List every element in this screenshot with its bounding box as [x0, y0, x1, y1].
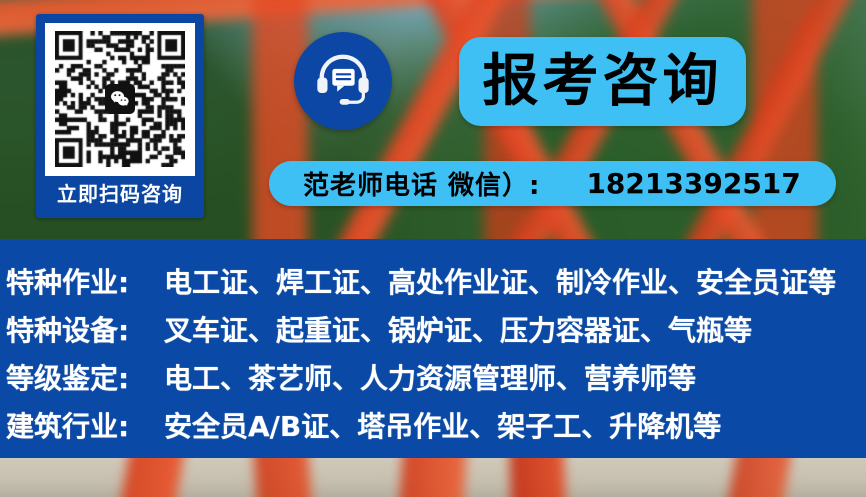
- course-row-value: 叉车证、起重证、锅炉证、压力容器证、气瓶等: [164, 309, 752, 349]
- course-row-label: 特种作业:: [6, 261, 156, 301]
- qr-card[interactable]: 立即扫码咨询: [36, 14, 204, 218]
- qr-code-icon[interactable]: [55, 31, 185, 167]
- course-row-value: 安全员A/B证、塔吊作业、架子工、升降机等: [164, 405, 721, 445]
- headset-support-icon: [312, 48, 374, 115]
- course-row-grade-assessment: 等级鉴定: 电工、茶艺师、人力资源管理师、营养师等: [0, 357, 866, 405]
- phone-pill[interactable]: 范老师电话 微信）: 18213392517: [269, 161, 836, 206]
- title-pill[interactable]: 报考咨询: [459, 37, 746, 126]
- course-row-value: 电工、茶艺师、人力资源管理师、营养师等: [164, 357, 696, 397]
- course-row-label: 等级鉴定:: [6, 357, 156, 397]
- qr-code-area: [45, 23, 195, 176]
- qr-caption: 立即扫码咨询: [39, 176, 201, 212]
- phone-number: 18213392517: [586, 167, 800, 200]
- course-row-value: 电工证、焊工证、高处作业证、制冷作业、安全员证等: [164, 261, 836, 301]
- course-row-special-equipment: 特种设备: 叉车证、起重证、锅炉证、压力容器证、气瓶等: [0, 309, 866, 357]
- hero-banner: 立即扫码咨询 报考咨询: [0, 0, 866, 239]
- course-row-special-operation: 特种作业: 电工证、焊工证、高处作业证、制冷作业、安全员证等: [0, 261, 866, 309]
- service-badge[interactable]: [294, 32, 392, 130]
- title-pill-label: 报考咨询: [483, 54, 723, 110]
- course-list-panel: 特种作业: 电工证、焊工证、高处作业证、制冷作业、安全员证等 特种设备: 叉车证…: [0, 239, 866, 458]
- bottom-photo-strip: [0, 458, 866, 497]
- promo-poster: 立即扫码咨询 报考咨询: [0, 0, 866, 497]
- wechat-icon: [105, 84, 135, 114]
- phone-pill-label: 范老师电话 微信）:: [303, 165, 540, 202]
- course-row-label: 建筑行业:: [6, 405, 156, 445]
- background-photo-ground: [0, 458, 866, 497]
- course-row-label: 特种设备:: [6, 309, 156, 349]
- course-row-construction-industry: 建筑行业: 安全员A/B证、塔吊作业、架子工、升降机等: [0, 405, 866, 453]
